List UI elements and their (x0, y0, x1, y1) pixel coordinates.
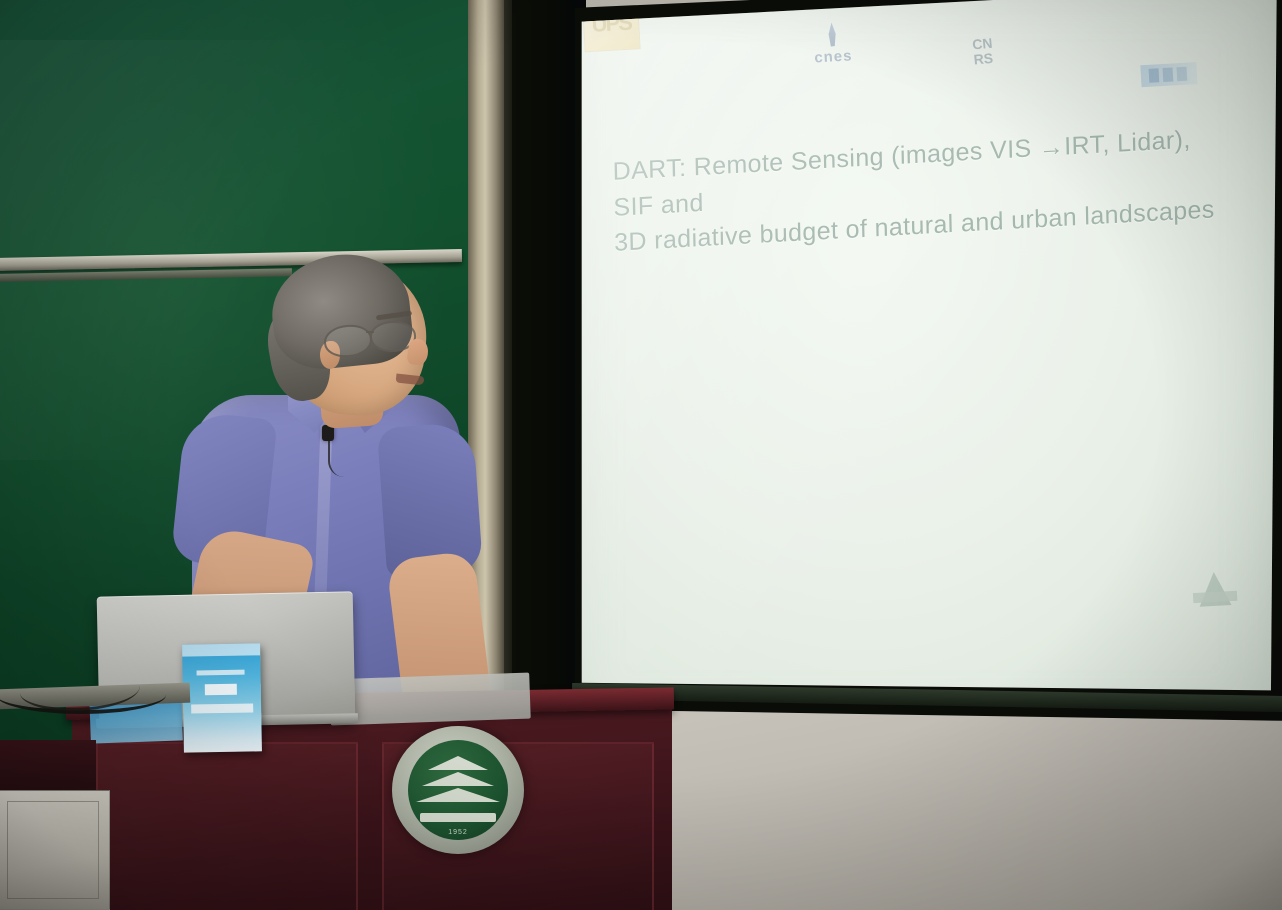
slide-title: DART: Remote Sensing (images VIS →IRT, L… (612, 120, 1233, 261)
emblem-chevron-2 (422, 772, 494, 786)
university-emblem-icon: 1952 (392, 726, 524, 854)
emblem-disc: 1952 (408, 740, 508, 840)
cnes-logo-label: cnes (801, 47, 866, 68)
speaker-nose (406, 338, 429, 367)
cnes-mark-icon (823, 22, 840, 47)
conference-booklet (182, 643, 262, 752)
projection-screen: DART: Remote Sensing (images VIS →IRT, L… (560, 0, 1282, 736)
cesbio-blue-logo-icon (1140, 62, 1197, 87)
cesbio-green-logo-icon (1183, 570, 1248, 629)
slide-content: DART: Remote Sensing (images VIS →IRT, L… (539, 0, 1282, 748)
lectern-panel-left (96, 742, 358, 910)
cnes-logo-icon: cnes (800, 21, 867, 78)
emblem-chevron-3 (416, 788, 500, 802)
booklet-text-line-1 (197, 670, 245, 676)
emblem-year-label: 1952 (408, 829, 508, 836)
eyeglasses-bridge-icon (366, 331, 374, 333)
booklet-text-line-3 (191, 703, 253, 713)
screen-surface: DART: Remote Sensing (images VIS →IRT, L… (560, 0, 1282, 736)
booklet-top-band (182, 643, 260, 656)
cnrs-logo-icon: CNRS (972, 33, 1030, 90)
laptop-keyboard-base (329, 673, 530, 726)
emblem-base-bar (420, 813, 496, 822)
lecture-photo-scene: DART: Remote Sensing (images VIS →IRT, L… (0, 0, 1282, 910)
emblem-chevron-1 (428, 756, 488, 770)
white-cabinet (0, 790, 110, 910)
booklet-text-line-2 (205, 684, 237, 696)
